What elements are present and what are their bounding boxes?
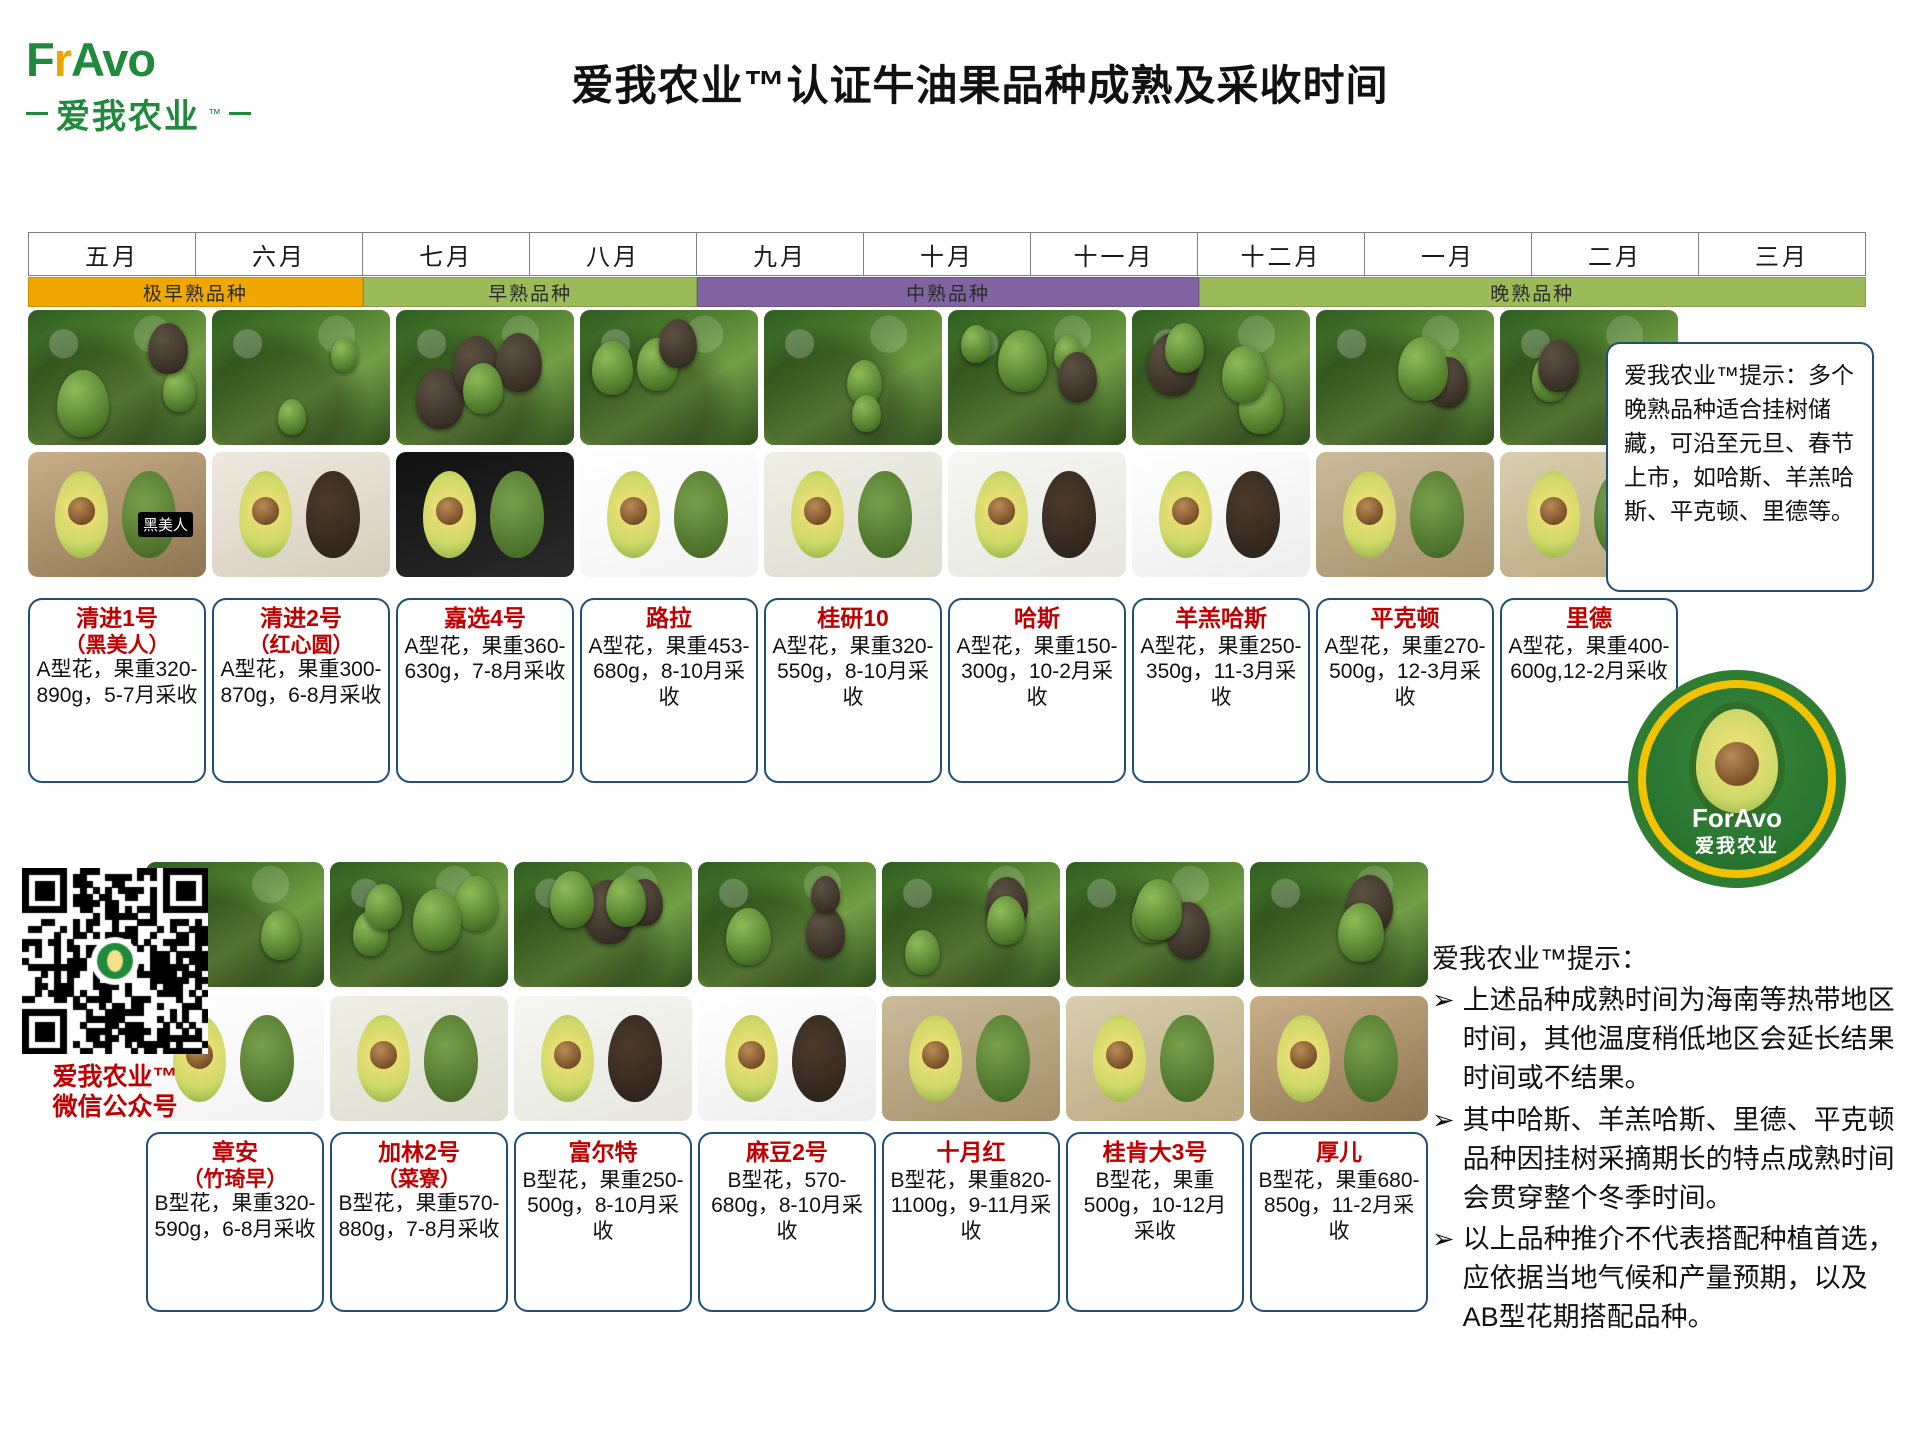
month-cell-4: 八月 [529, 232, 696, 276]
cut-fruit-photo-r2-3 [514, 996, 692, 1121]
avocado-pit [554, 1041, 582, 1069]
qr-code[interactable] [22, 868, 208, 1054]
qr-caption: 爱我农业™ 微信公众号 [22, 1062, 208, 1122]
avocado-half-skin [858, 471, 911, 559]
brand-logo: FrAvo 爱我农业 ™ [26, 36, 286, 146]
avocado-pit [1356, 497, 1384, 525]
variety-name: 嘉选4号 [444, 606, 526, 632]
variety-description: A型花，果重250-350g，11-3月采收 [1140, 634, 1302, 711]
avocado-half-skin [674, 471, 727, 559]
logo-wordmark: FrAvo [26, 36, 286, 83]
avocado-on-tree [496, 333, 542, 392]
variety-description: B型花，570-680g，8-10月采收 [706, 1168, 868, 1245]
variety-name: 麻豆2号 [746, 1140, 828, 1166]
avocado-half-skin [1160, 1015, 1213, 1103]
logo-rule-left [26, 112, 48, 115]
arrow-bullet-icon: ➢ [1432, 1101, 1455, 1218]
month-cell-5: 九月 [696, 232, 863, 276]
cut-fruit-photo-r1-7 [1132, 452, 1310, 577]
avocado-on-tree [1222, 346, 1266, 403]
avocado-on-tree [606, 875, 646, 926]
cut-fruit-photo-r2-6 [1066, 996, 1244, 1121]
month-cell-7: 十一月 [1030, 232, 1197, 276]
variety-description: A型花，果重320-890g，5-7月采收 [36, 657, 198, 708]
cut-fruit-photo-r1-2 [212, 452, 390, 577]
avocado-pit [1106, 1041, 1134, 1069]
season-band-1: 极早熟品种 [28, 277, 363, 307]
variety-card-r1-3: 嘉选4号A型花，果重360-630g，7-8月采收 [396, 598, 574, 783]
tip-item-1: ➢上述品种成熟时间为海南等热带地区时间，其他温度稍低地区会延长结果时间或不结果。 [1432, 981, 1898, 1098]
avocado-on-tree [961, 325, 991, 363]
avocado-on-tree [148, 323, 188, 374]
avocado-half-skin [1042, 471, 1095, 559]
variety-name: 清进1号 [76, 606, 158, 632]
avocado-on-tree [455, 876, 498, 931]
cut-fruit-photo-r1-5 [764, 452, 942, 577]
variety-name: 章安 [212, 1140, 258, 1166]
variety-description: A型花，果重150-300g，10-2月采收 [956, 634, 1118, 711]
month-cell-1: 五月 [28, 232, 195, 276]
variety-card-r2-4: 麻豆2号B型花，570-680g，8-10月采收 [698, 1132, 876, 1312]
tree-photo-r2-6 [1066, 862, 1244, 987]
variety-card-r2-3: 富尔特B型花，果重250-500g，8-10月采收 [514, 1132, 692, 1312]
badge-wordmark: ForAvo [1646, 803, 1828, 834]
avocado-pit [1290, 1041, 1318, 1069]
avocado-on-tree [1398, 337, 1448, 401]
qr-caption-line1: 爱我农业™ [22, 1062, 208, 1092]
avocado-on-tree [806, 907, 846, 958]
variety-name: 路拉 [646, 606, 692, 632]
avocado-on-tree [463, 363, 503, 414]
avocado-pit [804, 497, 832, 525]
variety-subname: （黑美人） [65, 634, 170, 658]
cut-fruit-photo-r1-8 [1316, 452, 1494, 577]
variety-card-r1-1: 清进1号（黑美人）A型花，果重320-890g，5-7月采收 [28, 598, 206, 783]
variety-card-r2-5: 十月红B型花，果重820-1100g，9-11月采收 [882, 1132, 1060, 1312]
avocado-pit [922, 1041, 950, 1069]
tree-photo-r2-4 [698, 862, 876, 987]
month-cell-9: 一月 [1364, 232, 1531, 276]
avocado-pit [1540, 497, 1568, 525]
season-band-row: 极早熟品种早熟品种中熟品种晚熟品种 [28, 277, 1866, 307]
avocado-pit [988, 497, 1016, 525]
page-title: 爱我农业™认证牛油果品种成熟及采收时间 [380, 52, 1580, 113]
variety-subname: （竹琦早） [183, 1168, 288, 1192]
variety-card-r2-7: 厚儿B型花，果重680-850g，11-2月采收 [1250, 1132, 1428, 1312]
avocado-half-skin [608, 1015, 661, 1103]
avocado-on-tree [592, 341, 634, 394]
badge-inner: ForAvo 爱我农业 [1646, 688, 1828, 870]
cut-fruit-photo-r2-2 [330, 996, 508, 1121]
variety-description: B型花，果重320-590g，6-8月采收 [154, 1191, 316, 1242]
avocado-half-skin [1226, 471, 1279, 559]
avocado-half-skin [976, 1015, 1029, 1103]
avocado-on-tree [413, 889, 461, 950]
variety-card-r1-7: 羊羔哈斯A型花，果重250-350g，11-3月采收 [1132, 598, 1310, 783]
month-cell-3: 七月 [362, 232, 529, 276]
variety-name: 羊羔哈斯 [1175, 606, 1267, 632]
tree-photo-r1-7 [1132, 310, 1310, 445]
variety-card-r2-1: 章安（竹琦早）B型花，果重320-590g，6-8月采收 [146, 1132, 324, 1312]
tree-photo-r2-2 [330, 862, 508, 987]
variety-name: 哈斯 [1014, 606, 1060, 632]
avocado-on-tree [905, 930, 940, 975]
season-band-4: 晚熟品种 [1199, 277, 1866, 307]
avocado-half-skin [306, 471, 359, 559]
tree-photo-r1-5 [764, 310, 942, 445]
cut-fruit-photo-r1-6 [948, 452, 1126, 577]
avocado-pit [738, 1041, 766, 1069]
variety-name: 富尔特 [569, 1140, 638, 1166]
variety-description: A型花，果重270-500g，12-3月采收 [1324, 634, 1486, 711]
avocado-on-tree [57, 370, 109, 436]
variety-card-r2-2: 加林2号（菜寮）B型花，果重570-880g，7-8月采收 [330, 1132, 508, 1312]
variety-name: 厚儿 [1316, 1140, 1362, 1166]
logo-rule-right [229, 112, 251, 115]
avocado-on-tree [987, 896, 1025, 945]
badge-chinese: 爱我农业 [1646, 831, 1828, 858]
avocado-half-skin [240, 1015, 293, 1103]
tip-item-text: 其中哈斯、羊羔哈斯、里德、平克顿品种因挂树采摘期长的特点成熟时间会贯穿整个冬季时… [1463, 1101, 1898, 1218]
variety-card-r1-6: 哈斯A型花，果重150-300g，10-2月采收 [948, 598, 1126, 783]
tree-photo-r1-4 [580, 310, 758, 445]
tip-item-2: ➢其中哈斯、羊羔哈斯、里德、平克顿品种因挂树采摘期长的特点成熟时间会贯穿整个冬季… [1432, 1101, 1898, 1218]
foliage-layer [698, 862, 876, 987]
avocado-on-tree [1338, 903, 1384, 961]
tree-photo-r1-3 [396, 310, 574, 445]
tree-photo-r2-5 [882, 862, 1060, 987]
avocado-pit [68, 497, 96, 525]
variety-description: B型花，果重250-500g，8-10月采收 [522, 1168, 684, 1245]
logo-chinese: 爱我农业 [56, 89, 200, 138]
variety-subname: （菜寮） [377, 1168, 461, 1192]
fruit-label-heimeiren: 黑美人 [138, 512, 193, 537]
month-cell-6: 十月 [863, 232, 1030, 276]
arrow-bullet-icon: ➢ [1432, 981, 1455, 1098]
avocado-on-tree [1058, 352, 1097, 402]
variety-card-r1-4: 路拉A型花，果重453-680g，8-10月采收 [580, 598, 758, 783]
variety-description: B型花，果重820-1100g，9-11月采收 [890, 1168, 1052, 1245]
avocado-on-tree [659, 319, 697, 368]
variety-description: A型花，果重300-870g，6-8月采收 [220, 657, 382, 708]
month-cell-2: 六月 [195, 232, 362, 276]
variety-name: 桂肯大3号 [1103, 1140, 1208, 1166]
variety-name: 十月红 [937, 1140, 1006, 1166]
variety-description: B型花，果重500g，10-12月采收 [1074, 1168, 1236, 1245]
tips-right-block: 爱我农业™提示： ➢上述品种成熟时间为海南等热带地区时间，其他温度稍低地区会延长… [1432, 940, 1898, 1339]
logo-tm: ™ [208, 106, 221, 121]
tip-box-storage: 爱我农业™提示：多个晚熟品种适合挂树储藏，可沿至元旦、春节上市，如哈斯、羊羔哈斯… [1606, 342, 1874, 592]
avocado-on-tree [163, 369, 197, 412]
month-cell-10: 二月 [1531, 232, 1698, 276]
tree-photo-r2-7 [1250, 862, 1428, 987]
avocado-on-tree [365, 884, 402, 931]
variety-name: 加林2号 [378, 1140, 460, 1166]
avocado-half-skin [1410, 471, 1463, 559]
avocado-pit [252, 497, 280, 525]
tips-right-list: ➢上述品种成熟时间为海南等热带地区时间，其他温度稍低地区会延长结果时间或不结果。… [1432, 981, 1898, 1337]
tree-photo-r1-2 [212, 310, 390, 445]
avocado-half-skin [424, 1015, 477, 1103]
variety-name: 清进2号 [260, 606, 342, 632]
variety-name: 里德 [1566, 606, 1612, 632]
arrow-bullet-icon: ➢ [1432, 1220, 1455, 1337]
variety-description: A型花，果重320-550g，8-10月采收 [772, 634, 934, 711]
season-band-2: 早熟品种 [363, 277, 698, 307]
variety-card-r1-8: 平克顿A型花，果重270-500g，12-3月采收 [1316, 598, 1494, 783]
variety-subname: （红心圆） [249, 634, 354, 658]
variety-card-r1-2: 清进2号（红心圆）A型花，果重300-870g，6-8月采收 [212, 598, 390, 783]
tip-item-text: 上述品种成熟时间为海南等热带地区时间，其他温度稍低地区会延长结果时间或不结果。 [1463, 981, 1898, 1098]
tip-item-text: 以上品种推介不代表搭配种植首选，应依据当地气候和产量预期，以及AB型花期搭配品种… [1463, 1220, 1898, 1337]
tree-photo-r1-6 [948, 310, 1126, 445]
month-header-row: 五月六月七月八月九月十月十一月十二月一月二月三月 [28, 232, 1866, 276]
avocado-half-skin [792, 1015, 845, 1103]
logo-rule: 爱我农业 ™ [26, 89, 286, 138]
avocado-pit [1172, 497, 1200, 525]
cut-fruit-photo-r1-3 [396, 452, 574, 577]
wechat-qr-block: 爱我农业™ 微信公众号 [22, 868, 208, 1122]
tree-photo-r1-8 [1316, 310, 1494, 445]
avocado-pit [370, 1041, 398, 1069]
avocado-pit [620, 497, 648, 525]
variety-card-r1-5: 桂研10A型花，果重320-550g，8-10月采收 [764, 598, 942, 783]
variety-description: A型花，果重360-630g，7-8月采收 [404, 634, 566, 685]
variety-card-r2-6: 桂肯大3号B型花，果重500g，10-12月采收 [1066, 1132, 1244, 1312]
foravo-round-badge: ForAvo 爱我农业 [1628, 670, 1846, 888]
qr-caption-line2: 微信公众号 [22, 1092, 208, 1122]
avocado-half-skin [1344, 1015, 1397, 1103]
variety-description: B型花，果重570-880g，7-8月采收 [338, 1191, 500, 1242]
month-cell-8: 十二月 [1197, 232, 1364, 276]
tree-photo-r1-1 [28, 310, 206, 445]
cut-fruit-photo-r2-4 [698, 996, 876, 1121]
tip-item-3: ➢以上品种推介不代表搭配种植首选，应依据当地气候和产量预期，以及AB型花期搭配品… [1432, 1220, 1898, 1337]
tree-photo-r2-3 [514, 862, 692, 987]
avocado-on-tree [278, 399, 306, 435]
cut-fruit-photo-r2-7 [1250, 996, 1428, 1121]
avocado-on-tree [261, 910, 300, 960]
variety-description: B型花，果重680-850g，11-2月采收 [1258, 1168, 1420, 1245]
variety-name: 平克顿 [1371, 606, 1440, 632]
badge-pit-icon [1715, 742, 1759, 786]
season-band-3: 中熟品种 [697, 277, 1198, 307]
tips-right-heading: 爱我农业™提示： [1432, 940, 1898, 979]
variety-description: A型花，果重453-680g，8-10月采收 [588, 634, 750, 711]
variety-name: 桂研10 [817, 606, 889, 632]
avocado-on-tree [852, 395, 880, 431]
cut-fruit-photo-r2-5 [882, 996, 1060, 1121]
month-cell-11: 三月 [1698, 232, 1866, 276]
avocado-half-skin [490, 471, 543, 559]
avocado-on-tree [331, 338, 358, 372]
avocado-pit [436, 497, 464, 525]
avocado-on-tree [1165, 323, 1204, 373]
cut-fruit-photo-r1-4 [580, 452, 758, 577]
